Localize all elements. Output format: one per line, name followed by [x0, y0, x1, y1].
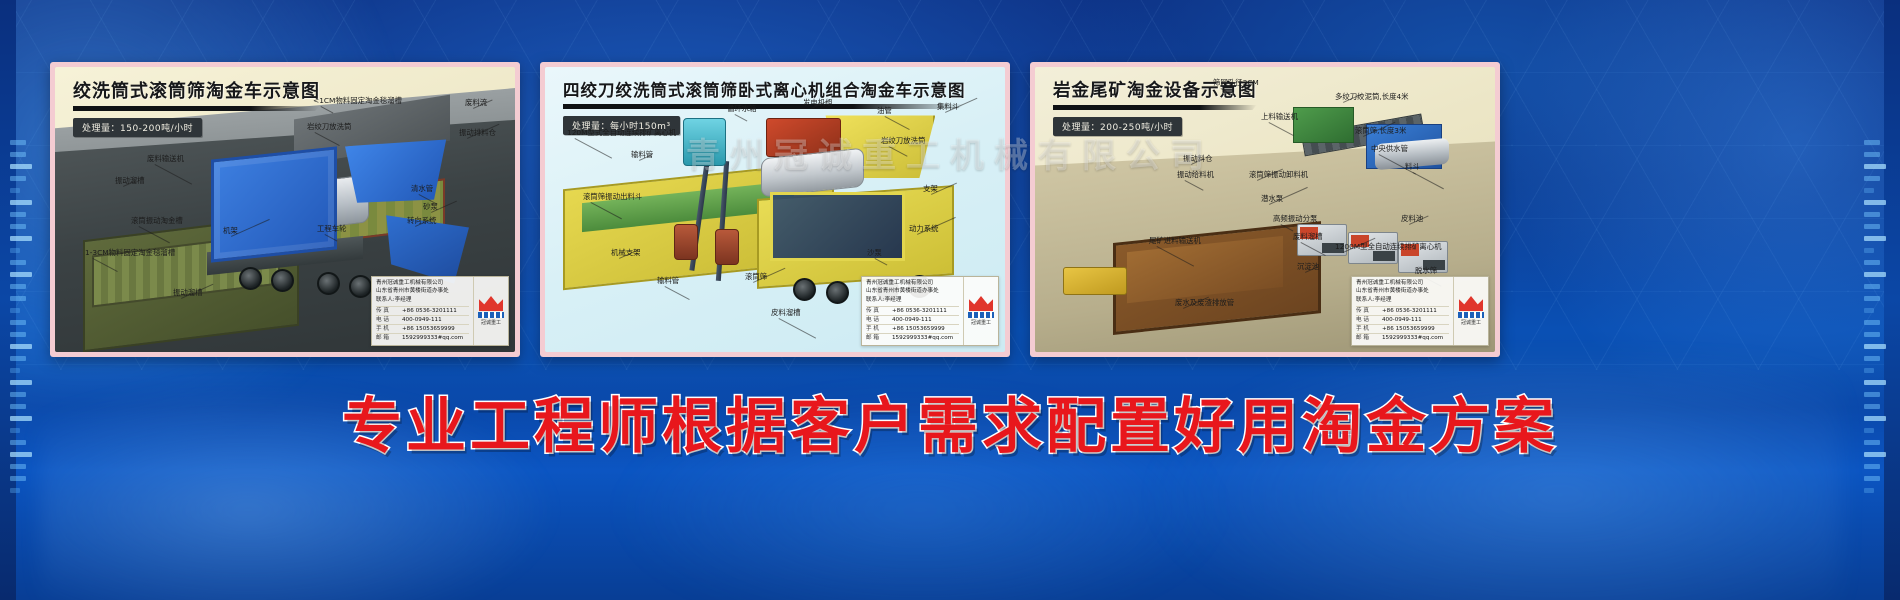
panel-2-contact-details: 青州冠诚重工机械有限公司 山东省青州市黄楼街道办事处 联系人:李经理 传 真+8… — [862, 277, 963, 345]
callout-label: 皮料溜槽 — [771, 309, 801, 317]
callout-label: 清水管 — [411, 185, 433, 193]
callout-label: 滚筒筛振动出料斗 — [583, 193, 642, 201]
company-line: 联系人:李经理 — [866, 297, 959, 305]
contact-row: 邮 箱1592999333#qq.com — [376, 333, 469, 342]
crown-icon — [969, 296, 993, 311]
contact-value: 1592999333#qq.com — [402, 334, 469, 342]
contact-row: 电 话400-0949-111 — [866, 315, 959, 324]
panel-3-contact-card: 青州冠诚重工机械有限公司 山东省青州市黄楼街道办事处 联系人:李经理 传 真+8… — [1351, 276, 1489, 346]
contact-row: 手 机+86 15053659999 — [1356, 324, 1449, 333]
panel-2-title-rule — [563, 104, 966, 109]
brand-name: 冠诚重工 — [1461, 319, 1481, 326]
contact-key: 电 话 — [376, 316, 402, 324]
callout-label: 沙泵 — [867, 249, 882, 257]
panel-3-title-rule — [1053, 105, 1257, 110]
contact-key: 传 真 — [866, 307, 892, 315]
crown-base-icon — [1458, 312, 1484, 318]
contact-value: 400-0949-111 — [1382, 316, 1449, 324]
company-line: 山东省青州市黄楼街道办事处 — [376, 288, 469, 296]
callout-label: 废料输送机 — [147, 155, 184, 163]
contact-row: 电 话400-0949-111 — [1356, 315, 1449, 324]
contact-key: 邮 箱 — [866, 334, 892, 342]
callout-label: <1CM物料固定淘金毯溜槽 — [313, 97, 402, 105]
brand-name: 冠诚重工 — [481, 319, 501, 326]
panel-1-logo: 冠诚重工 — [473, 277, 508, 345]
diagram-panel-3[interactable]: 岩金尾矿淘金设备示意图 处理量：200-250吨/小时 筛网孔径3CM多绞刀绞泥… — [1030, 62, 1500, 357]
panel-2-contact-card: 青州冠诚重工机械有限公司 山东省青州市黄楼街道办事处 联系人:李经理 传 真+8… — [861, 276, 999, 346]
contact-value: 400-0949-111 — [402, 316, 469, 324]
crown-base-icon — [968, 312, 994, 318]
contact-row: 传 真+86 0536-3201111 — [376, 306, 469, 315]
callout-label: 循环水箱 — [727, 105, 757, 113]
company-line: 青州冠诚重工机械有限公司 — [866, 280, 959, 288]
company-line: 联系人:李经理 — [1356, 297, 1449, 305]
diagram-panel-1[interactable]: 绞洗筒式滚筒筛淘金车示意图 处理量：150-200吨/小时 <1CM物料固定淘金… — [50, 62, 520, 357]
brand-name: 冠诚重工 — [971, 319, 991, 326]
contact-row: 手 机+86 15053659999 — [376, 324, 469, 333]
callout-label: 高频振动分泵 — [1273, 215, 1317, 223]
panel-2-logo: 冠诚重工 — [963, 277, 998, 345]
contact-key: 邮 箱 — [1356, 334, 1382, 342]
contact-value: +86 0536-3201111 — [402, 307, 469, 315]
company-line: 联系人:李经理 — [376, 297, 469, 305]
callout-label: 岩绞刀放洗筒 — [881, 137, 925, 145]
callout-label: 料斗 — [1405, 163, 1420, 171]
company-line: 青州冠诚重工机械有限公司 — [376, 280, 469, 288]
callout-label: 上料输送机 — [1261, 113, 1298, 121]
diagram-panel-2[interactable]: 四绞刀绞洗筒式滚筒筛卧式离心机组合淘金车示意图 处理量：每小时150m³ 循环水… — [540, 62, 1010, 357]
contact-value: +86 15053659999 — [1382, 325, 1449, 333]
contact-row: 传 真+86 0536-3201111 — [1356, 306, 1449, 315]
contact-value: +86 15053659999 — [402, 325, 469, 333]
banner-slogan: 专业工程师根据客户需求配置好用淘金方案 — [0, 378, 1900, 465]
contact-value: +86 0536-3201111 — [1382, 307, 1449, 315]
callout-label: 120M型式全自动连续排矿离心机 — [567, 129, 676, 137]
poster-stage: 绞洗筒式滚筒筛淘金车示意图 处理量：150-200吨/小时 <1CM物料固定淘金… — [0, 0, 1900, 600]
contact-value: 1592999333#qq.com — [892, 334, 959, 342]
panel-1-heading: 绞洗筒式滚筒筛淘金车示意图 处理量：150-200吨/小时 — [73, 77, 320, 137]
panel-2-title: 四绞刀绞洗筒式滚筒筛卧式离心机组合淘金车示意图 — [563, 77, 966, 101]
callout-label: 振动给料机 — [1177, 171, 1214, 179]
crown-base-icon — [478, 312, 504, 318]
contact-value: 1592999333#qq.com — [1382, 334, 1449, 342]
contact-key: 手 机 — [376, 325, 402, 333]
callout-label: 中央供水管 — [1371, 145, 1408, 153]
company-line: 山东省青州市黄楼街道办事处 — [866, 288, 959, 296]
contact-row: 手 机+86 15053659999 — [866, 324, 959, 333]
company-line: 青州冠诚重工机械有限公司 — [1356, 280, 1449, 288]
callout-label: 废水及废渣排放管 — [1175, 299, 1234, 307]
contact-value: +86 0536-3201111 — [892, 307, 959, 315]
callout-label: 滚筒筛振动卸料机 — [1249, 171, 1308, 179]
panel-3-logo: 冠诚重工 — [1453, 277, 1488, 345]
callout-label: 油管 — [877, 107, 892, 115]
callout-label: 滚筒振动淘金槽 — [131, 217, 183, 225]
contact-row: 邮 箱1592999333#qq.com — [866, 333, 959, 342]
panel-1-capacity-badge: 处理量：150-200吨/小时 — [73, 118, 202, 137]
panel-1-title: 绞洗筒式滚筒筛淘金车示意图 — [73, 77, 320, 103]
contact-key: 电 话 — [866, 316, 892, 324]
contact-row: 传 真+86 0536-3201111 — [866, 306, 959, 315]
contact-value: +86 15053659999 — [892, 325, 959, 333]
contact-row: 电 话400-0949-111 — [376, 315, 469, 324]
panel-3-capacity-badge: 处理量：200-250吨/小时 — [1053, 117, 1182, 136]
panel-1-contact-card: 青州冠诚重工机械有限公司 山东省青州市黄楼街道办事处 联系人:李经理 传 真+8… — [371, 276, 509, 346]
contact-key: 传 真 — [376, 307, 402, 315]
callout-label: 脱水筛 — [1415, 267, 1437, 275]
contact-row: 邮 箱1592999333#qq.com — [1356, 333, 1449, 342]
callout-label: 尾矿进料输送机 — [1149, 237, 1201, 245]
callout-label: 工程车轮 — [317, 225, 347, 233]
contact-key: 手 机 — [1356, 325, 1382, 333]
contact-key: 传 真 — [1356, 307, 1382, 315]
company-line: 山东省青州市黄楼街道办事处 — [1356, 288, 1449, 296]
contact-value: 400-0949-111 — [892, 316, 959, 324]
contact-key: 电 话 — [1356, 316, 1382, 324]
diagram-panel-row: 绞洗筒式滚筒筛淘金车示意图 处理量：150-200吨/小时 <1CM物料固定淘金… — [0, 62, 1900, 362]
callout-label: 岩绞刀放洗筒 — [307, 123, 351, 131]
crown-icon — [1459, 296, 1483, 311]
callout-label: 1-3CM物料固定淘金毯溜槽 — [85, 249, 175, 257]
callout-label: 废料溜槽 — [1293, 233, 1323, 241]
contact-key: 手 机 — [866, 325, 892, 333]
contact-key: 邮 箱 — [376, 334, 402, 342]
crown-icon — [479, 296, 503, 311]
callout-label: 筛网孔径3CM — [1213, 79, 1259, 87]
panel-1-contact-details: 青州冠诚重工机械有限公司 山东省青州市黄楼街道办事处 联系人:李经理 传 真+8… — [372, 277, 473, 345]
callout-label: 输料管 — [657, 277, 679, 285]
panel-1-title-rule — [73, 106, 320, 111]
panel-3-contact-details: 青州冠诚重工机械有限公司 山东省青州市黄楼街道办事处 联系人:李经理 传 真+8… — [1352, 277, 1453, 345]
